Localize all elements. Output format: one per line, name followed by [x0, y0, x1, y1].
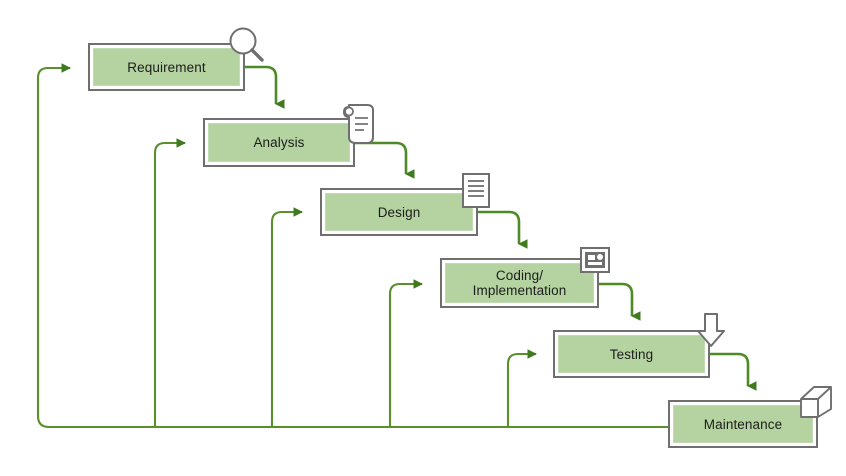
- feedback-maintenance-to-design: [272, 212, 302, 427]
- feedback-maintenance-to-testing: [508, 354, 536, 427]
- down-arrow-icon: [693, 311, 729, 353]
- stage-label-design: Design: [378, 205, 421, 220]
- stage-inner-coding-implementation: Coding/ Implementation: [445, 263, 594, 303]
- waterfall-diagram-canvas: Requirement Analysis Design Coding/ Impl…: [0, 0, 846, 476]
- stage-inner-requirement: Requirement: [93, 48, 240, 86]
- presentation-icon: [578, 245, 612, 279]
- connector-coding-to-testing: [599, 284, 632, 316]
- stage-label-testing: Testing: [610, 347, 653, 362]
- stage-inner-testing: Testing: [558, 335, 705, 373]
- document-icon: [459, 171, 493, 213]
- stage-box-testing[interactable]: Testing: [553, 330, 710, 378]
- stage-inner-analysis: Analysis: [208, 123, 350, 162]
- stage-box-requirement[interactable]: Requirement: [88, 43, 245, 91]
- connector-testing-to-maintenance: [710, 354, 748, 386]
- stage-label-analysis: Analysis: [253, 135, 304, 150]
- stage-box-analysis[interactable]: Analysis: [203, 118, 355, 167]
- stage-label-requirement: Requirement: [127, 60, 205, 75]
- connector-requirement-to-analysis: [245, 67, 276, 104]
- house-icon: [795, 383, 837, 423]
- stage-inner-maintenance: Maintenance: [673, 405, 813, 443]
- magnifier-icon: [225, 24, 269, 68]
- scroll-icon: [336, 101, 380, 147]
- feedback-maintenance-to-analysis: [155, 143, 185, 427]
- stage-box-design[interactable]: Design: [320, 188, 478, 236]
- feedback-maintenance-to-coding: [390, 284, 422, 427]
- connector-analysis-to-design: [355, 143, 406, 174]
- stage-box-coding-implementation[interactable]: Coding/ Implementation: [440, 258, 599, 308]
- stage-label-coding-implementation: Coding/ Implementation: [473, 268, 567, 298]
- stage-inner-design: Design: [325, 193, 473, 231]
- connector-design-to-coding: [478, 212, 519, 244]
- stage-label-maintenance: Maintenance: [704, 417, 782, 432]
